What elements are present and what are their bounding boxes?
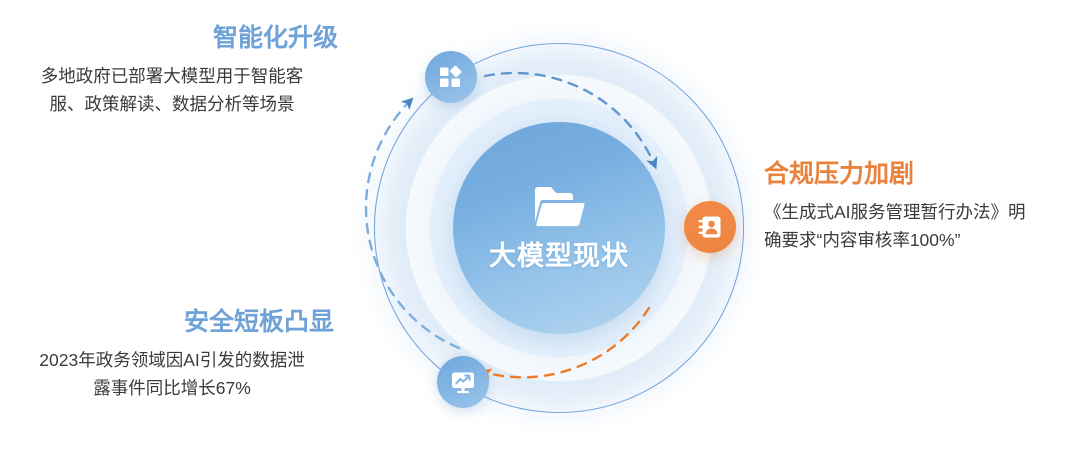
block-body-line: 《生成式AI服务管理暂行办法》明 xyxy=(764,198,1074,226)
monitor-chart-icon xyxy=(450,369,476,395)
contact-book-icon-glyph xyxy=(697,214,723,240)
block-title-security: 安全短板凸显 xyxy=(0,308,344,337)
block-title-intelligent: 智能化升级 xyxy=(0,24,344,53)
block-title-compliance: 合规压力加剧 xyxy=(764,160,1074,189)
grid-dashboard-icon xyxy=(438,64,464,90)
block-body-compliance: 《生成式AI服务管理暂行办法》明 确要求“内容审核率100%” xyxy=(764,198,1074,255)
folder-icon xyxy=(533,184,585,230)
block-body-intelligent: 多地政府已部署大模型用于智能客 服、政策解读、数据分析等场景 xyxy=(0,62,344,119)
monitor-chart-icon-glyph xyxy=(450,369,476,395)
folder-icon-glyph xyxy=(533,184,585,228)
node-badge-compliance[interactable] xyxy=(684,201,736,253)
text-block-intelligent: 智能化升级 多地政府已部署大模型用于智能客 服、政策解读、数据分析等场景 xyxy=(0,24,344,118)
node-badge-security[interactable] xyxy=(437,356,489,408)
center-core: 大模型现状 xyxy=(453,122,665,334)
block-body-line: 服、政策解读、数据分析等场景 xyxy=(0,90,344,118)
grid-dashboard-icon-glyph xyxy=(438,64,464,90)
block-body-line: 2023年政务领域因AI引发的数据泄 xyxy=(0,346,344,374)
block-body-line: 确要求“内容审核率100%” xyxy=(764,226,1074,254)
block-body-line: 露事件同比增长67% xyxy=(0,374,344,402)
text-block-security: 安全短板凸显 2023年政务领域因AI引发的数据泄 露事件同比增长67% xyxy=(0,308,344,402)
contact-book-icon xyxy=(697,214,723,240)
center-label: 大模型现状 xyxy=(489,234,629,273)
block-body-line: 多地政府已部署大模型用于智能客 xyxy=(0,62,344,90)
node-badge-intelligent[interactable] xyxy=(425,51,477,103)
text-block-compliance: 合规压力加剧 《生成式AI服务管理暂行办法》明 确要求“内容审核率100%” xyxy=(764,160,1074,254)
block-body-security: 2023年政务领域因AI引发的数据泄 露事件同比增长67% xyxy=(0,346,344,403)
